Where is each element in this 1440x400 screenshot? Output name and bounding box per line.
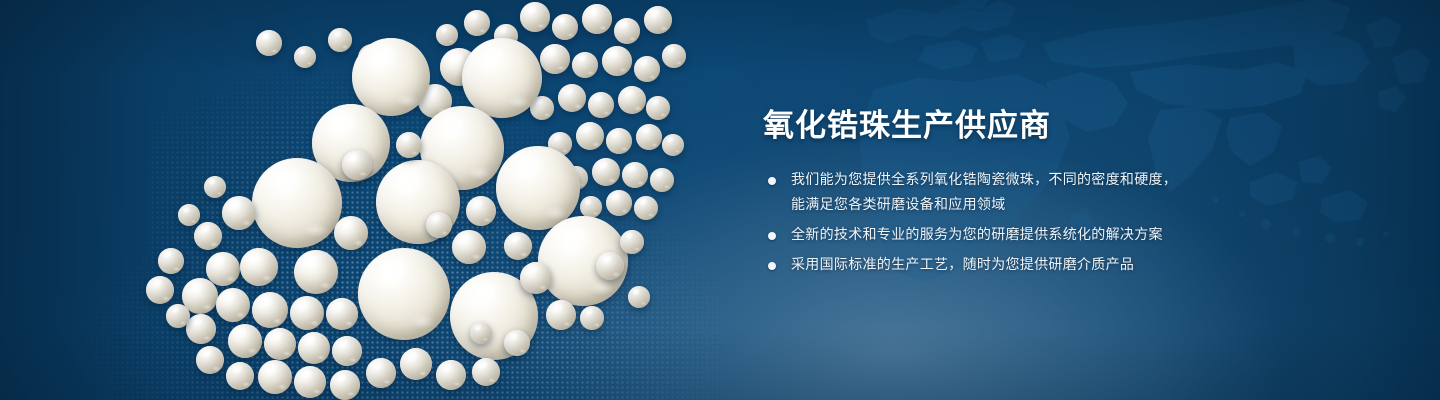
- list-item-line: 能满足您各类研磨设备和应用领域: [791, 193, 1323, 218]
- feature-list: 我们能为您提供全系列氧化锆陶瓷微珠，不同的密度和硬度， 能满足您各类研磨设备和应…: [763, 168, 1323, 278]
- list-item: 采用国际标准的生产工艺，随时为您提供研磨介质产品: [763, 253, 1323, 278]
- list-item: 全新的技术和专业的服务为您的研磨提供系统化的解决方案: [763, 223, 1323, 248]
- hero-banner: 氧化锆珠生产供应商 我们能为您提供全系列氧化锆陶瓷微珠，不同的密度和硬度， 能满…: [0, 0, 1440, 400]
- list-item-line: 我们能为您提供全系列氧化锆陶瓷微珠，不同的密度和硬度，: [791, 168, 1323, 193]
- list-item-line: 全新的技术和专业的服务为您的研磨提供系统化的解决方案: [791, 223, 1323, 248]
- bullet-dot-icon: [768, 177, 776, 185]
- list-item-line: 采用国际标准的生产工艺，随时为您提供研磨介质产品: [791, 253, 1323, 278]
- banner-copy: 氧化锆珠生产供应商 我们能为您提供全系列氧化锆陶瓷微珠，不同的密度和硬度， 能满…: [763, 106, 1323, 283]
- page-title: 氧化锆珠生产供应商: [763, 106, 1323, 146]
- bullet-dot-icon: [768, 232, 776, 240]
- bullet-dot-icon: [768, 262, 776, 270]
- list-item: 我们能为您提供全系列氧化锆陶瓷微珠，不同的密度和硬度， 能满足您各类研磨设备和应…: [763, 168, 1323, 218]
